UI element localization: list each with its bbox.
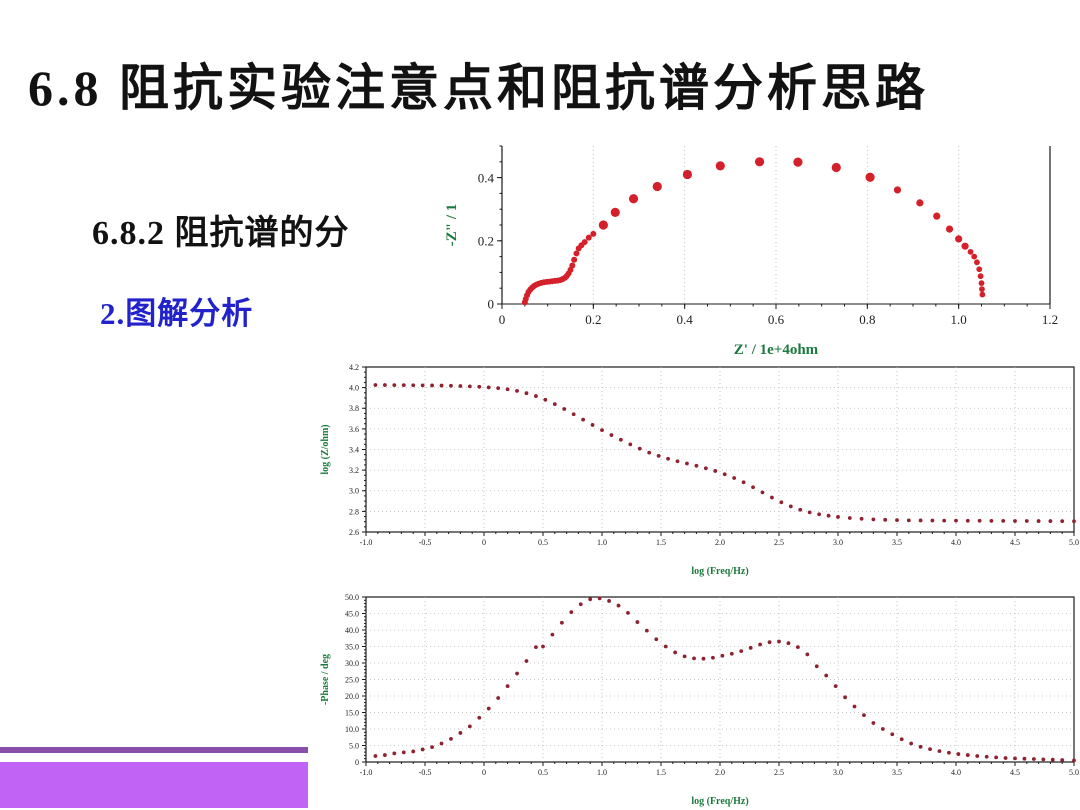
- data-point: [626, 611, 630, 615]
- data-point: [770, 496, 774, 500]
- x-tick-label: 0.6: [768, 312, 785, 327]
- x-tick-label: 0.8: [859, 312, 875, 327]
- data-point: [515, 672, 519, 676]
- data-point: [742, 480, 746, 484]
- footer-bar-thin-left: [0, 747, 308, 753]
- data-point: [421, 383, 425, 387]
- data-point: [907, 518, 911, 522]
- data-point: [468, 384, 472, 388]
- x-tick-label: 1.5: [656, 538, 666, 547]
- data-point: [430, 745, 434, 749]
- data-point: [440, 742, 444, 746]
- x-tick-label: 1.2: [1042, 312, 1058, 327]
- data-point: [1072, 519, 1076, 523]
- data-point: [610, 433, 614, 437]
- bullet-item-graphical-analysis: 2.图解分析: [100, 288, 253, 333]
- data-point: [534, 645, 538, 649]
- data-point: [695, 464, 699, 468]
- y-tick-label: 3.2: [349, 466, 359, 475]
- x-tick-label: 4.5: [1010, 538, 1020, 547]
- y-tick-label: 3.4: [349, 445, 359, 454]
- y-axis-title: -Phase / deg: [320, 654, 331, 705]
- x-tick-label: 1.5: [656, 768, 666, 777]
- data-point: [938, 749, 942, 753]
- data-point: [716, 161, 725, 170]
- data-point: [673, 651, 677, 655]
- y-tick-label: 2.6: [349, 528, 359, 537]
- data-point: [761, 491, 765, 495]
- y-tick-label: 45.0: [345, 609, 359, 618]
- data-point: [541, 645, 545, 649]
- data-point: [607, 599, 611, 603]
- data-point: [843, 695, 847, 699]
- data-point: [619, 438, 623, 442]
- data-point: [459, 384, 463, 388]
- data-point: [872, 518, 876, 522]
- data-point: [787, 641, 791, 645]
- data-point: [543, 398, 547, 402]
- x-tick-label: 2.5: [774, 768, 784, 777]
- x-tick-label: 3.5: [892, 538, 902, 547]
- data-point: [1013, 756, 1017, 760]
- data-point: [894, 186, 901, 193]
- y-tick-label: 10.0: [345, 725, 359, 734]
- data-point: [1072, 758, 1076, 762]
- data-point: [560, 621, 564, 625]
- data-point: [990, 519, 994, 523]
- data-point: [572, 412, 576, 416]
- data-point: [1051, 758, 1055, 762]
- data-point: [421, 748, 425, 752]
- data-point: [971, 254, 977, 260]
- data-point: [796, 645, 800, 649]
- data-point: [805, 653, 809, 657]
- data-point: [980, 292, 986, 298]
- x-tick-label: -0.5: [419, 538, 432, 547]
- y-tick-label: 4.0: [349, 384, 359, 393]
- data-point: [1060, 758, 1064, 762]
- bode-magnitude-plot: -1.0-0.500.51.01.52.02.53.03.54.04.55.02…: [316, 355, 1080, 580]
- y-tick-label: 50.0: [345, 593, 359, 602]
- x-tick-label: 4.0: [951, 768, 961, 777]
- data-point: [383, 753, 387, 757]
- data-point: [900, 737, 904, 741]
- data-point: [1001, 519, 1005, 523]
- data-point: [916, 199, 923, 206]
- data-point: [569, 262, 575, 268]
- nyquist-plot: 00.20.40.60.81.01.200.20.4Z' / 1e+4ohm-Z…: [440, 132, 1060, 362]
- data-point: [515, 389, 519, 393]
- data-point: [865, 173, 874, 182]
- x-tick-label: -1.0: [360, 768, 373, 777]
- y-tick-label: 0: [355, 758, 359, 767]
- data-point: [975, 754, 979, 758]
- x-tick-label: -0.5: [419, 768, 432, 777]
- x-axis-title: log (Freq/Hz): [691, 566, 748, 577]
- data-point: [979, 280, 985, 286]
- data-point: [553, 402, 557, 406]
- data-point: [946, 226, 953, 233]
- data-point: [477, 716, 481, 720]
- data-point: [692, 656, 696, 660]
- data-point: [730, 652, 734, 656]
- y-tick-label: 0: [488, 297, 495, 312]
- data-point: [749, 646, 753, 650]
- bode-phase-plot: -1.0-0.500.51.01.52.02.53.03.54.04.55.00…: [316, 585, 1080, 810]
- data-point: [496, 386, 500, 390]
- data-point: [579, 602, 583, 606]
- data-point: [1049, 519, 1053, 523]
- data-point: [751, 485, 755, 489]
- data-point: [600, 428, 604, 432]
- data-point: [836, 515, 840, 519]
- data-point: [942, 519, 946, 523]
- x-tick-label: 1.0: [597, 768, 607, 777]
- data-point: [654, 637, 658, 641]
- bode-magnitude-svg: -1.0-0.500.51.01.52.02.53.03.54.04.55.02…: [316, 355, 1080, 580]
- data-point: [853, 705, 857, 709]
- data-point: [440, 384, 444, 388]
- data-point: [598, 596, 602, 600]
- footer-bar-thick-left: [0, 762, 308, 808]
- data-point: [702, 657, 706, 661]
- data-point: [683, 170, 692, 179]
- data-point: [591, 423, 595, 427]
- data-point: [430, 384, 434, 388]
- data-point: [617, 604, 621, 608]
- x-tick-label: 0: [482, 768, 486, 777]
- data-point: [636, 620, 640, 624]
- x-tick-label: 0: [499, 312, 506, 327]
- data-point: [582, 239, 588, 245]
- nyquist-svg: 00.20.40.60.81.01.200.20.4Z' / 1e+4ohm-Z…: [440, 132, 1060, 362]
- data-point: [909, 742, 913, 746]
- x-tick-label: 0.5: [538, 538, 548, 547]
- data-point: [383, 383, 387, 387]
- data-point: [848, 516, 852, 520]
- y-tick-label: 4.2: [349, 363, 359, 372]
- data-point: [571, 257, 577, 263]
- data-point: [827, 514, 831, 518]
- data-point: [402, 751, 406, 755]
- data-point: [1025, 519, 1029, 523]
- data-point: [732, 476, 736, 480]
- data-point: [976, 266, 982, 272]
- data-point: [468, 724, 472, 728]
- data-point: [758, 643, 762, 647]
- data-point: [966, 519, 970, 523]
- data-point: [645, 629, 649, 633]
- data-point: [683, 655, 687, 659]
- data-point: [832, 163, 841, 172]
- data-point: [551, 633, 555, 637]
- data-point: [704, 466, 708, 470]
- y-tick-label: 20.0: [345, 692, 359, 701]
- x-tick-label: 2.0: [715, 538, 725, 547]
- data-point: [676, 459, 680, 463]
- data-point: [685, 462, 689, 466]
- x-tick-label: 4.0: [951, 538, 961, 547]
- data-point: [985, 755, 989, 759]
- data-point: [755, 157, 764, 166]
- data-point: [779, 500, 783, 504]
- data-point: [392, 752, 396, 756]
- data-point: [459, 731, 463, 735]
- y-tick-label: 2.8: [349, 507, 359, 516]
- data-point: [411, 750, 415, 754]
- data-point: [666, 457, 670, 461]
- data-point: [449, 384, 453, 388]
- data-point: [1060, 519, 1064, 523]
- data-point: [525, 659, 529, 663]
- data-point: [966, 753, 970, 757]
- data-point: [979, 286, 985, 292]
- data-point: [1013, 519, 1017, 523]
- x-tick-label: 2.5: [774, 538, 784, 547]
- data-point: [947, 751, 951, 755]
- data-point: [723, 472, 727, 476]
- data-point: [956, 752, 960, 756]
- x-tick-label: 4.5: [1010, 768, 1020, 777]
- data-point: [449, 737, 453, 741]
- data-point: [739, 649, 743, 653]
- y-tick-label: 15.0: [345, 708, 359, 717]
- data-point: [581, 418, 585, 422]
- x-axis-title: log (Freq/Hz): [691, 796, 748, 807]
- data-point: [506, 387, 510, 391]
- x-tick-label: -1.0: [360, 538, 373, 547]
- data-point: [525, 391, 529, 395]
- data-point: [961, 243, 968, 250]
- x-tick-label: 3.0: [833, 768, 843, 777]
- data-point: [487, 386, 491, 390]
- data-point: [978, 519, 982, 523]
- data-point: [974, 259, 980, 265]
- x-tick-label: 0.4: [677, 312, 694, 327]
- data-point: [919, 519, 923, 523]
- data-point: [933, 213, 940, 220]
- data-point: [720, 654, 724, 658]
- data-point: [534, 394, 538, 398]
- data-point: [1037, 519, 1041, 523]
- data-point: [928, 747, 932, 751]
- y-tick-label: 40.0: [345, 626, 359, 635]
- x-tick-label: 0.2: [585, 312, 601, 327]
- data-point: [628, 442, 632, 446]
- x-tick-label: 0.5: [538, 768, 548, 777]
- y-tick-label: 35.0: [345, 642, 359, 651]
- data-point: [496, 696, 500, 700]
- data-point: [653, 182, 662, 191]
- data-point: [657, 454, 661, 458]
- data-point: [798, 508, 802, 512]
- x-tick-label: 1.0: [597, 538, 607, 547]
- data-point: [862, 713, 866, 717]
- y-tick-label: 0.2: [478, 233, 494, 248]
- x-tick-label: 5.0: [1069, 538, 1079, 547]
- data-point: [590, 231, 596, 237]
- data-point: [713, 469, 717, 473]
- data-point: [1004, 756, 1008, 760]
- data-point: [638, 447, 642, 451]
- data-point: [931, 519, 935, 523]
- data-point: [664, 645, 668, 649]
- data-point: [711, 656, 715, 660]
- bode-phase-svg: -1.0-0.500.51.01.52.02.53.03.54.04.55.00…: [316, 585, 1080, 810]
- data-point: [611, 208, 620, 217]
- data-point: [808, 511, 812, 515]
- data-point: [569, 610, 573, 614]
- data-point: [954, 519, 958, 523]
- data-point: [789, 505, 793, 509]
- data-point: [860, 517, 864, 521]
- data-point: [881, 727, 885, 731]
- x-tick-label: 5.0: [1069, 768, 1079, 777]
- data-point: [629, 194, 638, 203]
- y-axis-title: -Z" / 1: [444, 204, 460, 247]
- data-point: [392, 383, 396, 387]
- data-point: [890, 732, 894, 736]
- x-tick-label: 2.0: [715, 768, 725, 777]
- data-point: [562, 407, 566, 411]
- x-tick-label: 0: [482, 538, 486, 547]
- data-point: [883, 518, 887, 522]
- y-tick-label: 0.4: [478, 170, 495, 185]
- data-point: [815, 664, 819, 668]
- data-point: [374, 383, 378, 387]
- data-point: [978, 273, 984, 279]
- x-tick-label: 1.0: [951, 312, 967, 327]
- y-tick-label: 3.8: [349, 404, 359, 413]
- data-point: [895, 518, 899, 522]
- data-point: [599, 220, 608, 229]
- y-tick-label: 30.0: [345, 659, 359, 668]
- y-tick-label: 3.6: [349, 425, 359, 434]
- data-point: [506, 684, 510, 688]
- y-axis-title: log (Z/ohm): [320, 424, 331, 474]
- data-point: [487, 707, 491, 711]
- data-point: [834, 684, 838, 688]
- data-point: [1032, 757, 1036, 761]
- data-point: [968, 249, 974, 255]
- data-point: [994, 755, 998, 759]
- data-point: [374, 754, 378, 758]
- data-series: [522, 157, 985, 305]
- data-point: [777, 640, 781, 644]
- page-title: 6.8 阻抗实验注意点和阻抗谱分析思路: [28, 62, 1052, 115]
- data-series: [374, 383, 1076, 523]
- data-point: [411, 383, 415, 387]
- x-tick-label: 3.0: [833, 538, 843, 547]
- data-point: [793, 158, 802, 167]
- data-point: [477, 385, 481, 389]
- data-point: [647, 451, 651, 455]
- data-point: [402, 383, 406, 387]
- data-point: [824, 674, 828, 678]
- data-point: [1041, 757, 1045, 761]
- data-point: [919, 745, 923, 749]
- data-point: [955, 235, 962, 242]
- data-point: [817, 512, 821, 516]
- section-subtitle: 6.8.2 阻抗谱的分: [92, 205, 350, 254]
- data-point: [588, 597, 592, 601]
- data-point: [1023, 757, 1027, 761]
- y-tick-label: 5.0: [349, 741, 359, 750]
- data-point: [872, 721, 876, 725]
- data-point: [768, 640, 772, 644]
- y-tick-label: 25.0: [345, 675, 359, 684]
- y-tick-label: 3.0: [349, 487, 359, 496]
- x-tick-label: 3.5: [892, 768, 902, 777]
